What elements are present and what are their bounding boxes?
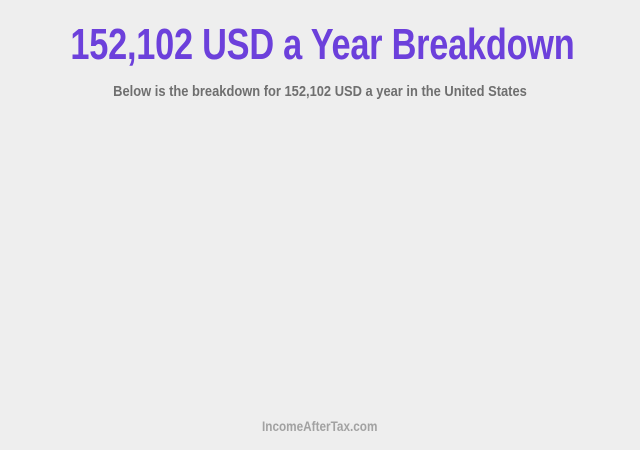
breakdown-content-area bbox=[0, 118, 640, 413]
page-header: 152,102 USD a Year Breakdown Below is th… bbox=[0, 0, 640, 101]
page-title: 152,102 USD a Year Breakdown bbox=[70, 20, 569, 70]
breakdown-page: 152,102 USD a Year Breakdown Below is th… bbox=[0, 0, 640, 450]
site-watermark: IncomeAfterTax.com bbox=[262, 418, 377, 435]
page-subtitle: Below is the breakdown for 152,102 USD a… bbox=[45, 70, 595, 101]
page-footer: IncomeAfterTax.com bbox=[0, 418, 640, 436]
